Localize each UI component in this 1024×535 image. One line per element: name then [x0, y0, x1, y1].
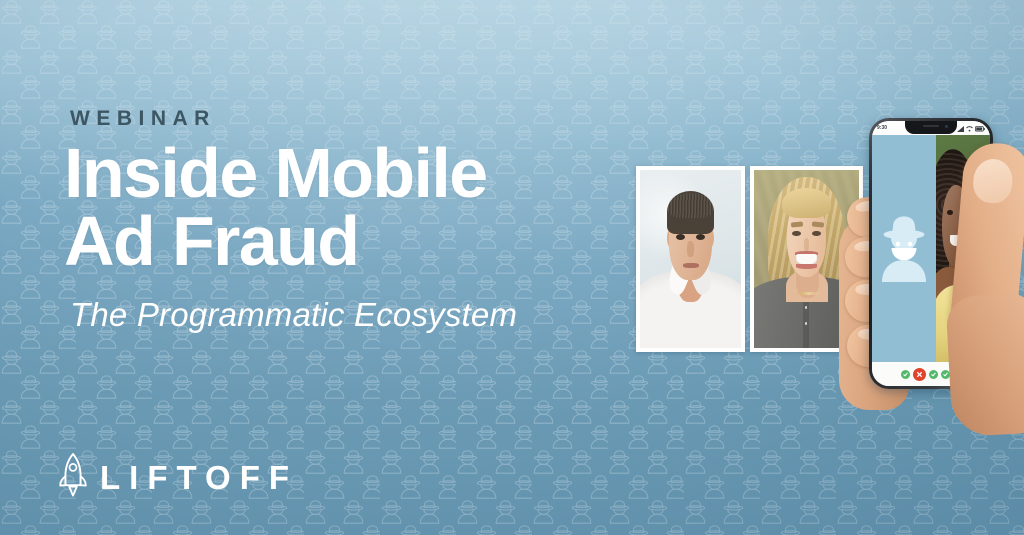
battery-icon	[975, 121, 985, 137]
status-close-icon[interactable]	[913, 368, 926, 381]
phone-notch	[905, 121, 957, 134]
lower-palm	[945, 293, 1024, 437]
page-title: Inside Mobile Ad Fraud	[64, 140, 487, 276]
wifi-icon	[966, 121, 973, 137]
status-check-icon-1[interactable]	[901, 370, 910, 379]
status-time: 9:30	[877, 125, 887, 131]
speaker-photo-1	[636, 166, 745, 352]
spy-with-hat-icon	[878, 214, 930, 284]
webinar-banner: WEBINAR Inside Mobile Ad Fraud The Progr…	[0, 0, 1024, 535]
signal-icon	[957, 121, 964, 137]
status-check-icon-2[interactable]	[929, 370, 938, 379]
brand-logo: LIFTOFF	[58, 452, 298, 503]
rocket-icon	[58, 452, 88, 503]
anonymous-spy-avatar-panel	[872, 135, 936, 362]
status-check-icon-3[interactable]	[941, 370, 950, 379]
page-subtitle: The Programmatic Ecosystem	[70, 298, 517, 331]
brand-wordmark: LIFTOFF	[100, 461, 298, 494]
phone-mockup-scene: 9:30	[845, 95, 1024, 435]
kicker-label: WEBINAR	[70, 108, 216, 129]
